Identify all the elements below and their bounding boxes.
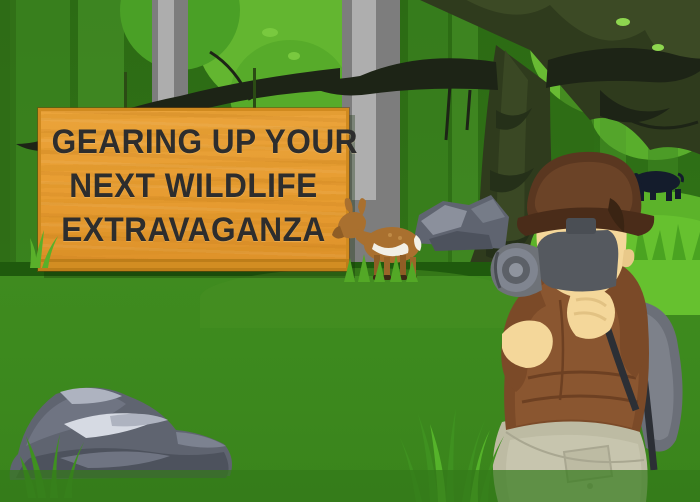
- camera: [536, 230, 618, 292]
- wooden-sign: GEARING UP YOUR NEXT WILDLIFE EXTRAVAGAN…: [38, 108, 349, 271]
- title-line-3: EXTRAVAGANZA: [52, 208, 336, 252]
- deer-grass: [340, 252, 430, 282]
- sign-rope-right: [253, 68, 256, 112]
- wildlife-photography-poster: GEARING UP YOUR NEXT WILDLIFE EXTRAVAGAN…: [0, 0, 700, 502]
- leaf-speck-1: [262, 28, 278, 37]
- ground-foreground-band: [0, 470, 700, 502]
- leaf-speck-4: [652, 44, 664, 51]
- sign-title: GEARING UP YOUR NEXT WILDLIFE EXTRAVAGAN…: [52, 120, 336, 252]
- leaf-speck-3: [616, 18, 630, 26]
- leaf-speck-2: [288, 52, 300, 60]
- sign-rope-left: [124, 72, 127, 112]
- title-line-2: NEXT WILDLIFE: [52, 164, 336, 208]
- title-line-1: GEARING UP YOUR: [52, 120, 336, 164]
